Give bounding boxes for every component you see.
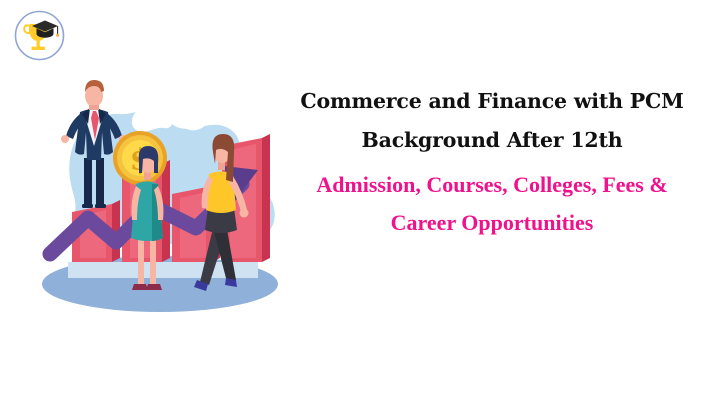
page-subtitle: Admission, Courses, Colleges, Fees & Car…	[282, 166, 702, 242]
business-growth-illustration: $	[28, 66, 293, 316]
title-block: Commerce and Finance with PCM Background…	[282, 82, 702, 242]
page-title-line-1: Commerce and Finance with PCM	[282, 82, 702, 121]
page-subtitle-line-1: Admission, Courses, Colleges, Fees &	[282, 166, 702, 204]
site-logo[interactable]	[12, 8, 67, 63]
graduation-trophy-icon	[12, 8, 67, 63]
background-blob-notch	[132, 104, 173, 131]
illustration-svg: $	[28, 66, 293, 316]
page-title-line-2: Background After 12th	[282, 121, 702, 160]
page-title: Commerce and Finance with PCM Background…	[282, 82, 702, 160]
page-subtitle-line-2: Career Opportunities	[282, 204, 702, 242]
